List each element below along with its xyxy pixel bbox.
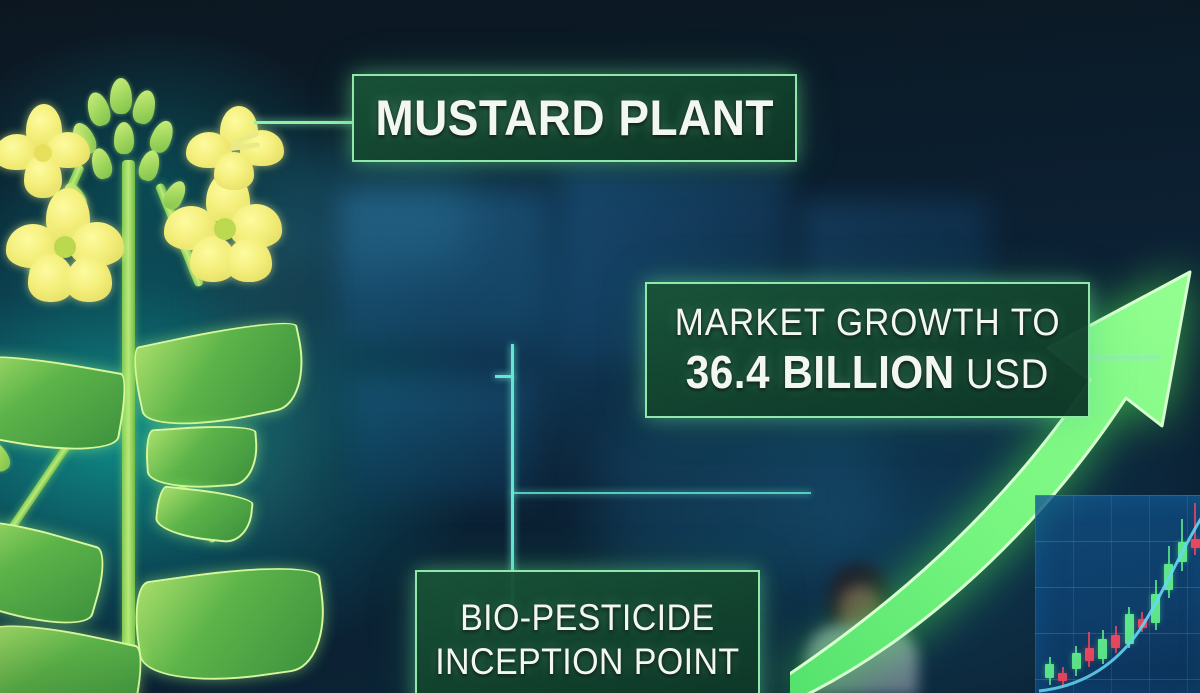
- flower-bud: [136, 148, 163, 183]
- infographic-canvas: MUSTARD PLANT MARKET GROWTH TO 36.4 BILL…: [0, 0, 1200, 693]
- chart-trend-line: [1035, 495, 1200, 693]
- flower-bud: [114, 122, 134, 154]
- flower-bud: [110, 78, 132, 114]
- callout-market-growth-line1: MARKET GROWTH TO: [675, 302, 1061, 345]
- connector-market-label-to-arrow: [1088, 356, 1160, 359]
- mustard-flower: [6, 188, 126, 304]
- mustard-flower: [0, 104, 90, 200]
- connector-tick-left: [495, 375, 513, 378]
- background-monitor-4: [350, 380, 530, 500]
- mustard-flower: [186, 106, 286, 190]
- callout-mustard-plant[interactable]: MUSTARD PLANT: [352, 74, 797, 162]
- plant-leaf: [154, 485, 255, 545]
- plant-leaf: [129, 557, 332, 692]
- plant-leaf: [0, 509, 111, 637]
- flower-bud: [89, 146, 115, 181]
- callout-bio-pesticide[interactable]: BIO-PESTICIDE INCEPTION POINT: [415, 570, 760, 693]
- connector-bio-branch: [511, 492, 811, 494]
- candlestick-chart: [1035, 495, 1200, 693]
- callout-bio-pesticide-line2: INCEPTION POINT: [435, 640, 739, 684]
- market-growth-currency: USD: [955, 350, 1049, 397]
- callout-bio-pesticide-line1: BIO-PESTICIDE: [460, 596, 714, 640]
- plant-leaf: [0, 347, 130, 461]
- plant-leaf: [144, 422, 260, 492]
- market-growth-amount: 36.4 BILLION: [686, 346, 955, 398]
- callout-market-growth[interactable]: MARKET GROWTH TO 36.4 BILLION USD: [645, 282, 1090, 418]
- flower-bud: [130, 88, 159, 126]
- callout-market-growth-value: 36.4 BILLION USD: [686, 345, 1049, 399]
- connector-plant-to-mustard-label: [254, 121, 354, 124]
- callout-mustard-plant-label: MUSTARD PLANT: [375, 89, 774, 147]
- mustard-plant-illustration: [0, 30, 350, 693]
- plant-leaf: [128, 313, 313, 438]
